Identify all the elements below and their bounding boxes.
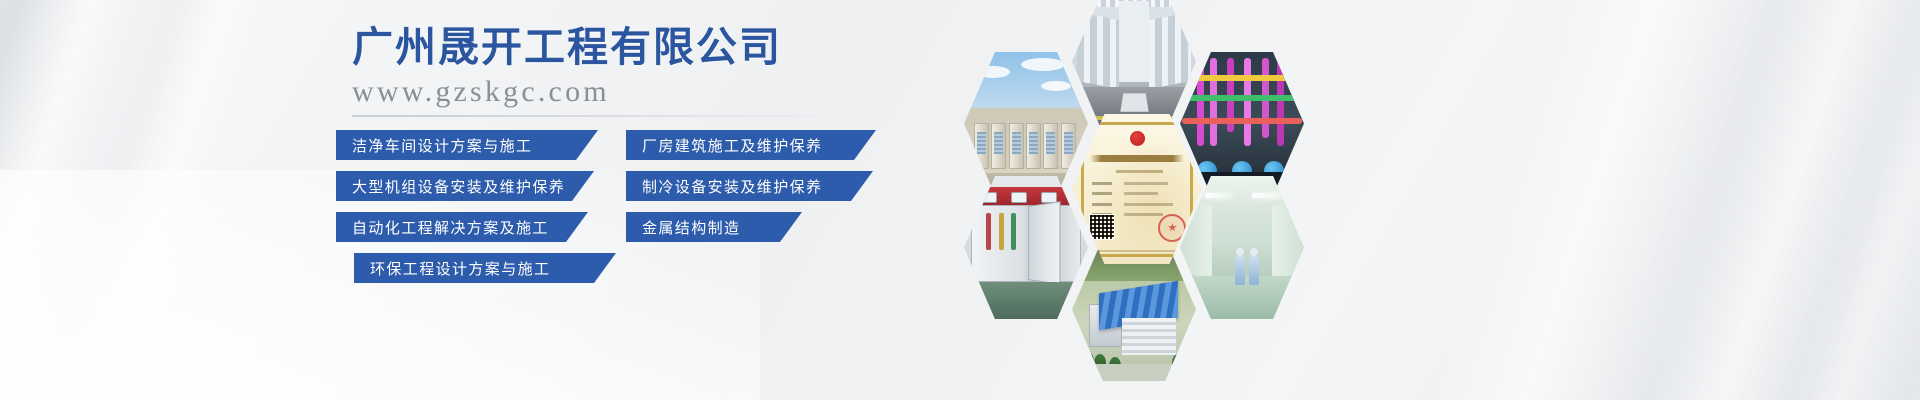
company-banner: 广州晟开工程有限公司 www.gzskgc.com 洁净车间设计方案与施工 大型… <box>0 0 1920 400</box>
service-tag-label: 洁净车间设计方案与施工 <box>352 135 532 156</box>
background-sheen-5 <box>1746 0 1920 400</box>
pipe-system-image <box>1180 52 1304 195</box>
hvac-units-image <box>964 52 1088 195</box>
hex-photo-cleanroom[interactable] <box>1180 176 1304 319</box>
control-cabinets-image <box>964 176 1088 319</box>
background-sheen-3 <box>1394 0 1807 400</box>
cleanroom-image <box>1180 176 1304 319</box>
hex-photo-switchgear[interactable] <box>1072 0 1196 133</box>
service-tag-automation[interactable]: 自动化工程解决方案及施工 <box>336 212 588 242</box>
service-tag-label: 金属结构制造 <box>642 217 740 238</box>
official-seal-icon <box>1158 214 1186 242</box>
service-tag-label: 环保工程设计方案与施工 <box>370 258 550 279</box>
company-title: 广州晟开工程有限公司 <box>352 24 912 71</box>
service-tag-large-equipment[interactable]: 大型机组设备安装及维护保养 <box>336 171 594 201</box>
national-emblem-icon <box>1130 131 1145 146</box>
switchgear-room-image <box>1072 0 1196 133</box>
background-sheen-2 <box>11 0 319 400</box>
service-tag-cleanroom[interactable]: 洁净车间设计方案与施工 <box>336 130 598 160</box>
service-tag-environmental[interactable]: 环保工程设计方案与施工 <box>354 253 616 283</box>
qr-code-icon <box>1089 214 1115 240</box>
background-shade-left <box>0 0 267 400</box>
service-tag-column-left: 洁净车间设计方案与施工 大型机组设备安装及维护保养 自动化工程解决方案及施工 环… <box>336 130 616 294</box>
qualification-certificate-image <box>1072 114 1202 264</box>
service-tag-label: 制冷设备安装及维护保养 <box>642 176 822 197</box>
service-tag-metal-structure[interactable]: 金属结构制造 <box>626 212 802 242</box>
background-sheen-1 <box>0 0 218 400</box>
certificate-title-line <box>1090 155 1184 162</box>
hex-photo-pipes[interactable] <box>1180 52 1304 195</box>
background-shade-right <box>1455 0 1920 400</box>
website-url[interactable]: www.gzskgc.com <box>352 75 912 109</box>
service-tag-refrigeration[interactable]: 制冷设备安装及维护保养 <box>626 171 873 201</box>
service-tag-label: 自动化工程解决方案及施工 <box>352 217 549 238</box>
hex-photo-hvac[interactable] <box>964 52 1088 195</box>
service-tag-label: 大型机组设备安装及维护保养 <box>352 176 565 197</box>
hex-photo-certificate[interactable] <box>1072 114 1202 264</box>
background-sheen-4 <box>1612 0 1920 400</box>
service-tag-factory-building[interactable]: 厂房建筑施工及维护保养 <box>626 130 876 160</box>
service-tag-label: 厂房建筑施工及维护保养 <box>642 135 822 156</box>
hex-photo-gallery <box>940 0 1360 400</box>
service-tag-group: 洁净车间设计方案与施工 大型机组设备安装及维护保养 自动化工程解决方案及施工 环… <box>336 130 976 290</box>
hex-photo-cabinets[interactable] <box>964 176 1088 319</box>
brand-text-block: 广州晟开工程有限公司 www.gzskgc.com <box>352 24 912 117</box>
service-tag-column-right: 厂房建筑施工及维护保养 制冷设备安装及维护保养 金属结构制造 <box>626 130 876 253</box>
title-divider <box>352 115 852 117</box>
